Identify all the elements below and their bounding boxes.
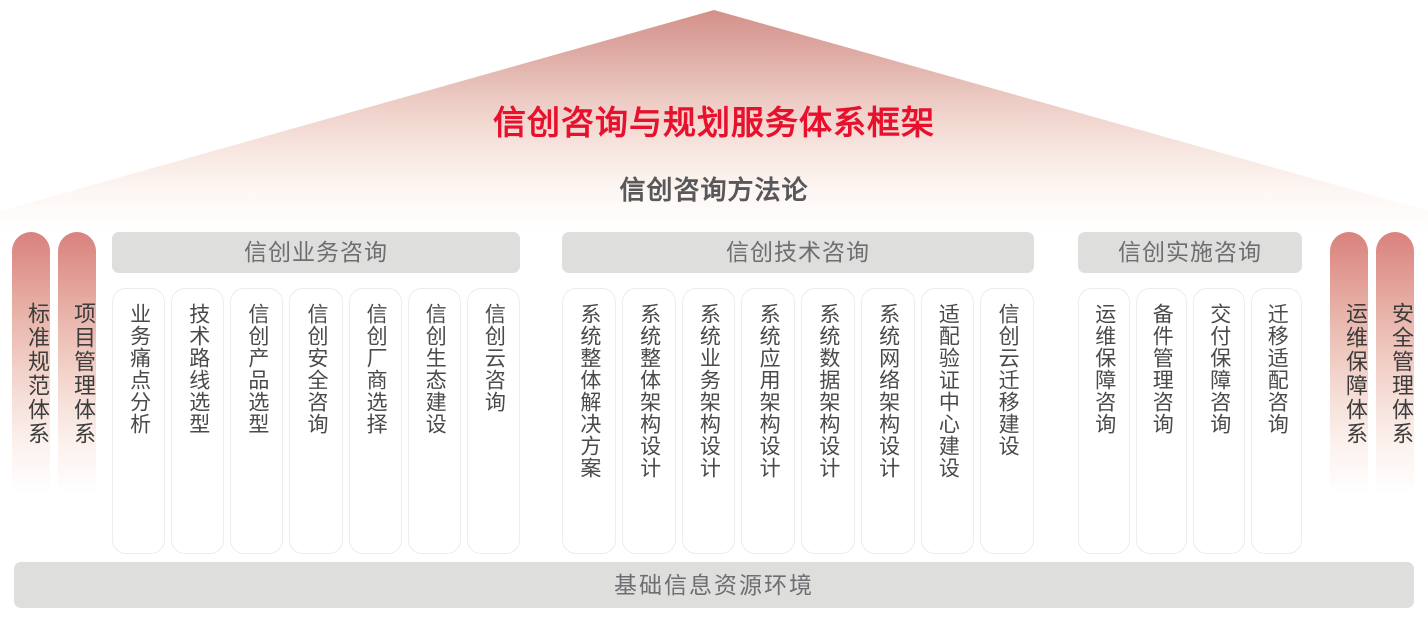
card-label: 信创云迁移建设 [995,303,1019,457]
card-label: 系统整体解决方案 [577,303,601,479]
card-item[interactable]: 运维保障咨询 [1078,288,1130,554]
card-label: 适配验证中心建设 [935,303,959,479]
card-item[interactable]: 系统数据架构设计 [801,288,855,554]
card-item[interactable]: 适配验证中心建设 [921,288,975,554]
card-label: 交付保障咨询 [1207,303,1231,435]
card-item[interactable]: 系统应用架构设计 [741,288,795,554]
card-item[interactable]: 信创云咨询 [467,288,520,554]
foundation-bar: 基础信息资源环境 [14,562,1414,608]
card-label: 系统整体架构设计 [637,303,661,479]
group-cards-business-consulting: 业务痛点分析 技术路线选型 信创产品选型 信创安全咨询 信创厂商选择 信创生态建… [112,288,520,554]
group-cards-technology-consulting: 系统整体解决方案 系统整体架构设计 系统业务架构设计 系统应用架构设计 系统数据… [562,288,1034,554]
pillar-label-security-management: 安全管理体系 [1376,302,1414,522]
card-label: 信创生态建设 [422,303,446,435]
card-item[interactable]: 信创产品选型 [230,288,283,554]
card-item[interactable]: 系统整体解决方案 [562,288,616,554]
card-item[interactable]: 系统网络架构设计 [861,288,915,554]
card-label: 系统数据架构设计 [816,303,840,479]
card-label: 技术路线选型 [186,303,210,435]
card-item[interactable]: 迁移适配咨询 [1251,288,1303,554]
card-label: 迁移适配咨询 [1264,303,1288,435]
card-label: 系统网络架构设计 [876,303,900,479]
card-label: 信创安全咨询 [304,303,328,435]
card-item[interactable]: 信创云迁移建设 [980,288,1034,554]
diagram-title: 信创咨询与规划服务体系框架 [0,96,1428,144]
pillar-label-standard-specification: 标准规范体系 [12,302,50,522]
card-item[interactable]: 信创厂商选择 [349,288,402,554]
card-item[interactable]: 交付保障咨询 [1193,288,1245,554]
card-item[interactable]: 信创安全咨询 [289,288,342,554]
card-label: 信创产品选型 [245,303,269,435]
card-item[interactable]: 业务痛点分析 [112,288,165,554]
card-label: 运维保障咨询 [1092,303,1116,435]
group-header-business-consulting[interactable]: 信创业务咨询 [112,232,520,273]
card-item[interactable]: 信创生态建设 [408,288,461,554]
diagram-subtitle: 信创咨询方法论 [0,170,1428,207]
card-label: 业务痛点分析 [127,303,151,435]
card-item[interactable]: 备件管理咨询 [1136,288,1188,554]
card-label: 系统业务架构设计 [696,303,720,479]
architecture-diagram: 信创咨询与规划服务体系框架 信创咨询方法论 标准规范体系 项目管理体系 运维保障… [0,0,1428,627]
card-item[interactable]: 系统整体架构设计 [622,288,676,554]
card-label: 备件管理咨询 [1149,303,1173,435]
group-cards-implementation-consulting: 运维保障咨询 备件管理咨询 交付保障咨询 迁移适配咨询 [1078,288,1302,554]
pillar-label-ops-assurance: 运维保障体系 [1330,302,1368,522]
card-label: 系统应用架构设计 [756,303,780,479]
card-item[interactable]: 技术路线选型 [171,288,224,554]
group-header-implementation-consulting[interactable]: 信创实施咨询 [1078,232,1302,273]
pillar-label-project-management: 项目管理体系 [58,302,96,522]
card-label: 信创厂商选择 [363,303,387,435]
group-header-technology-consulting[interactable]: 信创技术咨询 [562,232,1034,273]
card-label: 信创云咨询 [481,303,505,413]
card-item[interactable]: 系统业务架构设计 [682,288,736,554]
